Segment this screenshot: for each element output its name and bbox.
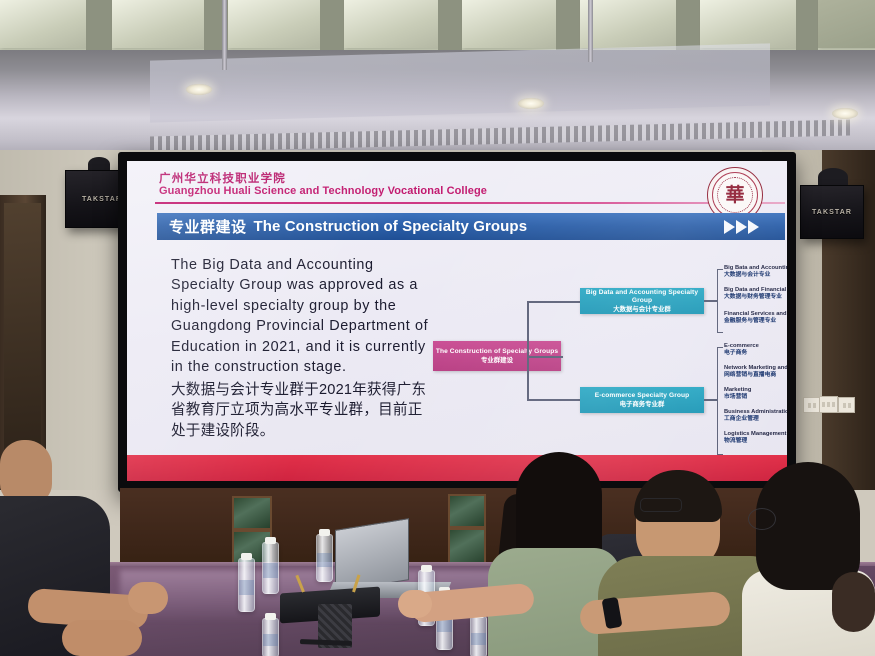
attendee-foreground-hand	[62, 620, 142, 656]
diagram-connector	[527, 356, 529, 400]
branch2-label-cn: 电子商务专业群	[620, 401, 665, 408]
water-bottle	[316, 534, 333, 582]
slide-title-banner: 专业群建设 The Construction of Specialty Grou…	[157, 213, 785, 240]
university-name-cn: 广州华立科技职业学院	[159, 170, 286, 186]
leaf-label-cn: 物流管理	[724, 438, 787, 445]
diagram-connector	[527, 301, 529, 357]
ceiling-baffle	[228, 0, 320, 48]
wall-inlay	[448, 528, 486, 566]
diagram-leaf: E-commerce 电子商务	[724, 343, 759, 357]
ceiling-baffle	[700, 0, 796, 48]
university-name-en: Guangzhou Huali Science and Technology V…	[159, 185, 487, 197]
leaf-label-cn: 网络营销与直播电商	[724, 372, 787, 379]
diagram-leaf: Logistics Management 物流管理	[724, 431, 787, 445]
ceiling-gap	[556, 0, 580, 56]
diagram-leaf: Big Bata and Accounting 大数据与会计专业	[724, 265, 787, 279]
diagram-connector	[527, 356, 563, 358]
speaker-bracket	[818, 168, 848, 186]
seal-character: 華	[725, 186, 744, 205]
light-switch-panel[interactable]	[803, 397, 820, 413]
ceiling-gap	[796, 0, 818, 56]
wall-display[interactable]: 广州华立科技职业学院 Guangzhou Huali Science and T…	[118, 152, 796, 492]
leaf-label-cn: 金融服务与管理专业	[724, 318, 787, 325]
root-label-en: The Construction of Specialty Groups	[436, 348, 558, 356]
diagram-branch-node-1: Big Data and Accounting Specialty Group …	[580, 288, 704, 314]
slide-body-chinese: 大数据与会计专业群于2021年获得广东省教育厅立项为高水平专业群，目前正处于建设…	[171, 380, 429, 441]
branch1-label-en: Big Data and Accounting Specialty Group	[580, 289, 704, 304]
diagram-connector	[704, 399, 718, 401]
diagram-branch-node-2: E-commerce Specialty Group 电子商务专业群	[580, 387, 704, 413]
attendee-left-hand	[128, 582, 168, 614]
ceiling-gap	[438, 0, 462, 56]
ceiling-baffle	[344, 0, 438, 48]
light-switch-panel[interactable]	[819, 396, 838, 413]
chevron-right-icon	[724, 220, 759, 234]
ceiling-baffle	[818, 0, 875, 48]
diagram-bracket	[717, 347, 723, 455]
leaf-label-cn: 市场营销	[724, 394, 751, 401]
leaf-label-cn: 大数据与财务管理专业	[724, 294, 787, 301]
diagram-connector	[704, 300, 718, 302]
speaker-bracket	[88, 157, 110, 171]
ceiling-post	[222, 0, 227, 70]
presentation-slide: 广州华立科技职业学院 Guangzhou Huali Science and T…	[127, 161, 787, 481]
slide-body: The Big Data and Accounting Specialty Gr…	[171, 255, 429, 441]
ceiling-post	[588, 0, 593, 62]
laptop-screen[interactable]	[335, 518, 409, 592]
root-label-cn: 专业群建设	[481, 357, 513, 364]
header-rule	[155, 202, 785, 204]
ceiling-gap	[86, 0, 112, 56]
light-switch-panel[interactable]	[838, 397, 855, 413]
diagram-leaf: Marketing 市场营销	[724, 387, 751, 401]
ceiling-downlight	[186, 84, 212, 95]
diagram-connector	[527, 399, 581, 401]
diagram-bracket	[717, 269, 723, 333]
branch1-label-cn: 大数据与会计专业群	[613, 306, 671, 313]
slide-title-en: The Construction of Specialty Groups	[254, 218, 528, 235]
reflection-text	[186, 58, 190, 70]
ceiling-downlight	[518, 98, 544, 109]
wall-inlay	[232, 496, 272, 530]
speaker-brand-label: TAKSTAR	[812, 209, 852, 216]
diagram-leaf: Business Administration 工商企业管理	[724, 409, 787, 423]
wall-inlay	[448, 494, 486, 528]
ceiling-baffle	[462, 0, 556, 48]
attendee-left-head	[0, 440, 52, 504]
glasses-icon	[748, 508, 776, 530]
ceiling-downlight	[832, 108, 858, 119]
diagram-leaf: Financial Services and Management 金融服务与管…	[724, 311, 787, 325]
diagram-leaf: Network Marketing and Livestream E-comme…	[724, 365, 787, 379]
water-bottle	[262, 618, 279, 656]
leaf-label-cn: 工商企业管理	[724, 416, 787, 423]
glasses-icon	[640, 498, 682, 512]
diagram-connector	[527, 301, 581, 303]
leaf-label-cn: 大数据与会计专业	[724, 272, 787, 279]
specialty-group-diagram: The Construction of Specialty Groups 专业群…	[427, 261, 787, 461]
attendee-far-right-head	[832, 572, 875, 632]
conference-room-photo: TAKSTAR TAKSTAR 广州华立科技职业学院 Guangzhou Hua…	[0, 0, 875, 656]
leaf-label-cn: 电子商务	[724, 350, 759, 357]
ceiling-baffle	[0, 0, 86, 48]
slide-body-english: The Big Data and Accounting Specialty Gr…	[171, 255, 429, 378]
water-bottle	[262, 542, 279, 594]
slide-title-cn: 专业群建设	[169, 216, 247, 237]
reflection-text	[168, 74, 171, 84]
wall-speaker-right: TAKSTAR	[800, 185, 864, 239]
water-bottle	[470, 616, 487, 656]
presenter-hand	[398, 590, 432, 618]
ceiling-baffle	[580, 0, 676, 48]
ceiling-baffle	[112, 0, 204, 48]
speaker-brand-label: TAKSTAR	[82, 196, 122, 203]
branch2-label-en: E-commerce Specialty Group	[595, 392, 690, 400]
ceiling-gap	[320, 0, 344, 56]
water-bottle	[238, 558, 255, 612]
diagram-leaf: Big Data and Financial Management 大数据与财务…	[724, 287, 787, 301]
